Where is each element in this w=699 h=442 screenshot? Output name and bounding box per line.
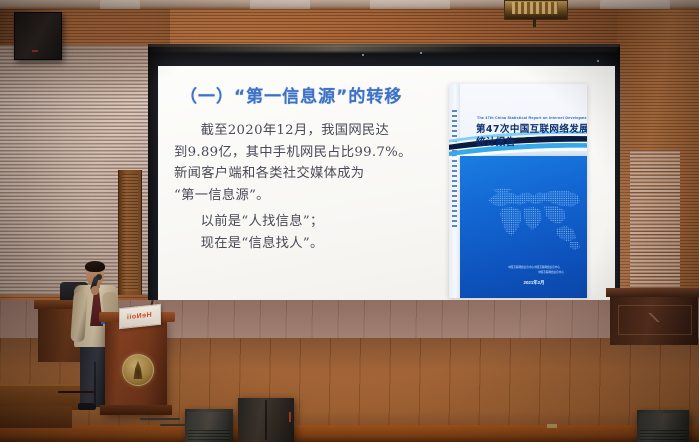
dust-speck <box>420 52 422 54</box>
floor-marker <box>547 424 557 428</box>
stage-cable <box>140 418 180 420</box>
slide-body-line-4: “第一信息源”。 <box>174 185 442 207</box>
stage-monitor-right-face <box>639 413 687 430</box>
slide-body-line-5: 以前是“人找信息”； <box>174 211 442 233</box>
stage-step <box>0 406 72 428</box>
book-publisher-line1: 中国互联网络信息中心中国互联网络信息中心 <box>494 266 574 270</box>
slide-body-line-1: 截至2020年12月，我国网民达 <box>174 120 442 142</box>
side-cabinet-top <box>606 288 699 297</box>
dust-speck <box>597 60 599 62</box>
microphone-head-icon <box>96 274 102 280</box>
dust-speck <box>362 54 364 56</box>
bass-cabinet-seam <box>265 400 267 440</box>
stage-cable <box>160 424 188 426</box>
slide-body-text: 截至2020年12月，我国网民达 到9.89亿，其中手机网民占比99.7%。 新… <box>174 120 442 254</box>
hanging-lamp-glow <box>512 2 558 14</box>
slide-title: （一）“第一信息源”的转移 <box>180 82 402 107</box>
projection-wall-highlight <box>150 44 618 52</box>
book-chinese-title-line2: 统计报告 <box>476 134 516 148</box>
bass-cabinet-led-icon <box>289 412 291 422</box>
book-blue-field: 中国互联网络信息中心中国互联网络信息中心 中国互联网络信息中心 2021年2月 <box>460 156 587 298</box>
presenter-shoe <box>78 403 96 410</box>
slide-body-line-2: 到9.89亿，其中手机网民占比99.7%。 <box>174 142 442 164</box>
slide-body-line-3: 新闻客户端和各类社交媒体成为 <box>174 163 442 185</box>
projected-slide: （一）“第一信息源”的转移 截至2020年12月，我国网民达 到9.89亿，其中… <box>158 66 615 314</box>
book-publisher-right: 中国互联网络信息中心 <box>538 271 587 275</box>
side-door[interactable] <box>118 170 142 295</box>
podium-base <box>100 405 172 415</box>
slide-body-line-6: 现在是“信息找人”。 <box>174 233 442 255</box>
auditorium-scene: （一）“第一信息源”的转移 截至2020年12月，我国网民达 到9.89亿，其中… <box>0 0 699 442</box>
institution-emblem-icon <box>122 354 154 386</box>
emblem-glyph-icon <box>131 361 145 379</box>
report-cover-image: The 47th China Statistical Report on Int… <box>449 84 587 298</box>
stage-front-edge <box>0 425 699 442</box>
world-map-icon <box>482 180 586 256</box>
book-english-title: The 47th China Statistical Report on Int… <box>477 116 587 120</box>
speaker-led-icon <box>32 50 38 52</box>
stage-monitor-right-grill <box>640 430 686 441</box>
right-fabric-wall-panel <box>630 150 680 290</box>
stage-cable <box>58 391 94 393</box>
wall-speaker-icon <box>14 12 62 60</box>
book-date: 2021年2月 <box>494 280 574 286</box>
presenter-hair <box>85 261 105 272</box>
presenter-hand <box>91 286 99 295</box>
stage-monitor-left-grill <box>188 430 230 440</box>
presenter-leg-seam <box>94 362 96 407</box>
book-chinese-title-line1: 第47次中国互联网络发展状况 <box>476 121 587 135</box>
hanging-lamp-rod <box>533 18 536 27</box>
stage-monitor-left-face <box>187 412 231 430</box>
side-cabinet-ornament <box>624 313 684 322</box>
